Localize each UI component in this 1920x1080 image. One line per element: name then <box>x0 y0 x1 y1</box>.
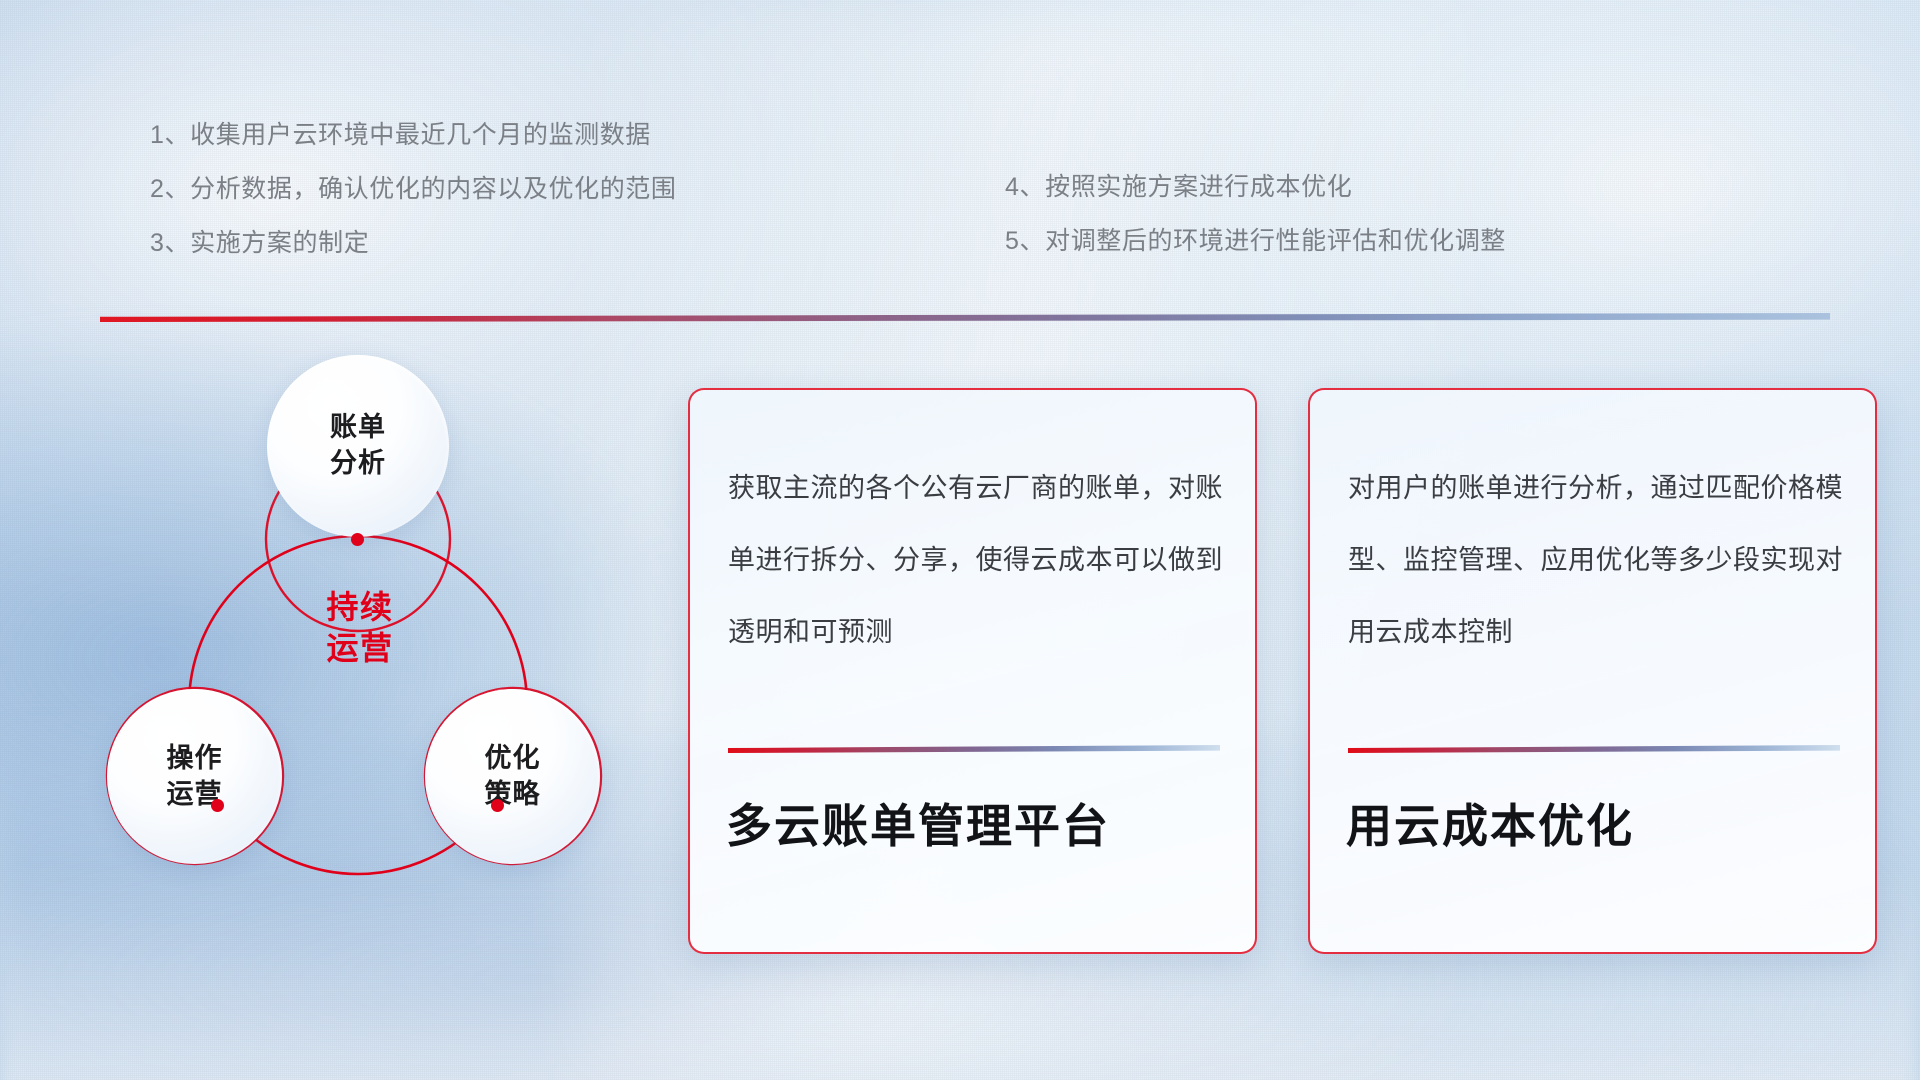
venn-node-dot-bottom-left <box>211 799 224 812</box>
card-body-text: 对用户的账单进行分析，通过匹配价格模型、监控管理、应用优化等多少段实现对用云成本… <box>1348 452 1843 668</box>
card-title: 多云账单管理平台 <box>726 790 1110 856</box>
step-item-5: 5、对调整后的环境进行性能评估和优化调整 <box>1005 214 1506 268</box>
venn-bubble-billing-analysis[interactable]: 账单分析 <box>267 355 449 537</box>
card-cloud-cost-optimization[interactable]: 对用户的账单进行分析，通过匹配价格模型、监控管理、应用优化等多少段实现对用云成本… <box>1308 388 1877 954</box>
steps-right-column: 4、按照实施方案进行成本优化 5、对调整后的环境进行性能评估和优化调整 <box>1005 160 1506 268</box>
step-item-4: 4、按照实施方案进行成本优化 <box>1005 160 1506 214</box>
card-divider <box>1348 745 1840 753</box>
venn-node-dot-bottom-right <box>491 799 504 812</box>
step-item-2: 2、分析数据，确认优化的内容以及优化的范围 <box>150 162 677 216</box>
venn-bubble-label: 账单分析 <box>330 410 386 481</box>
card-divider-bar <box>1348 745 1840 753</box>
card-body-text: 获取主流的各个公有云厂商的账单，对账单进行拆分、分享，使得云成本可以做到透明和可… <box>728 452 1223 668</box>
venn-bubble-operations[interactable]: 操作运营 <box>107 689 282 864</box>
slide-canvas: 1、收集用户云环境中最近几个月的监测数据 2、分析数据，确认优化的内容以及优化的… <box>0 0 1920 1080</box>
venn-center-label: 持续运营 <box>300 587 420 669</box>
step-item-3: 3、实施方案的制定 <box>150 216 677 270</box>
card-title: 用云成本优化 <box>1346 790 1634 856</box>
venn-node-dot-top <box>351 533 364 546</box>
step-item-1: 1、收集用户云环境中最近几个月的监测数据 <box>150 108 677 162</box>
card-divider <box>728 745 1220 753</box>
section-divider <box>100 313 1830 322</box>
venn-bubble-optimization-strategy[interactable]: 优化策略 <box>425 689 600 864</box>
steps-left-column: 1、收集用户云环境中最近几个月的监测数据 2、分析数据，确认优化的内容以及优化的… <box>150 108 677 270</box>
section-divider-bar <box>100 313 1830 322</box>
card-multi-cloud-billing[interactable]: 获取主流的各个公有云厂商的账单，对账单进行拆分、分享，使得云成本可以做到透明和可… <box>688 388 1257 954</box>
card-divider-bar <box>728 745 1220 753</box>
venn-diagram: 账单分析 操作运营 优化策略 持续运营 <box>95 355 640 955</box>
